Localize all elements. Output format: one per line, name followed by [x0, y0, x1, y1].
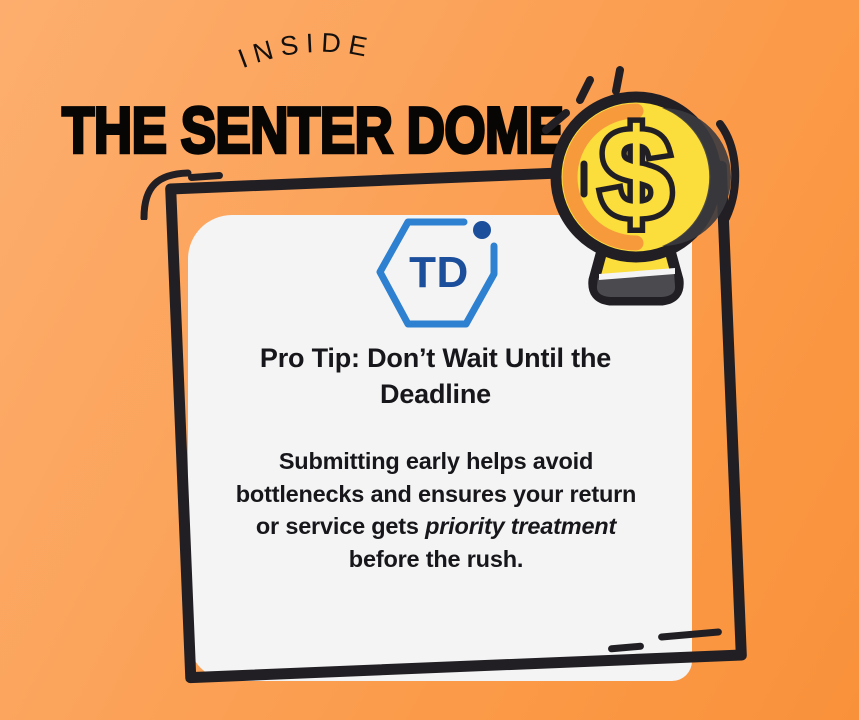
- tip-body-after: before the rush.: [349, 546, 523, 572]
- lightbulb-dollar-icon: $: [534, 66, 764, 316]
- tip-body-italic: priority treatment: [425, 513, 616, 539]
- arc-top-left-decoration: [140, 168, 192, 220]
- logo-dot-icon: [473, 221, 491, 239]
- dollar-sign-icon: $: [600, 103, 671, 246]
- tip-heading: Pro Tip: Don’t Wait Until the Deadline: [218, 340, 653, 412]
- poster-canvas: INSIDE THE SENTER DOME: [0, 0, 859, 720]
- dash-top-left-decoration: [188, 172, 223, 181]
- tip-body: Submitting early helps avoid bottlenecks…: [230, 445, 642, 575]
- logo-letters: TD: [372, 243, 506, 303]
